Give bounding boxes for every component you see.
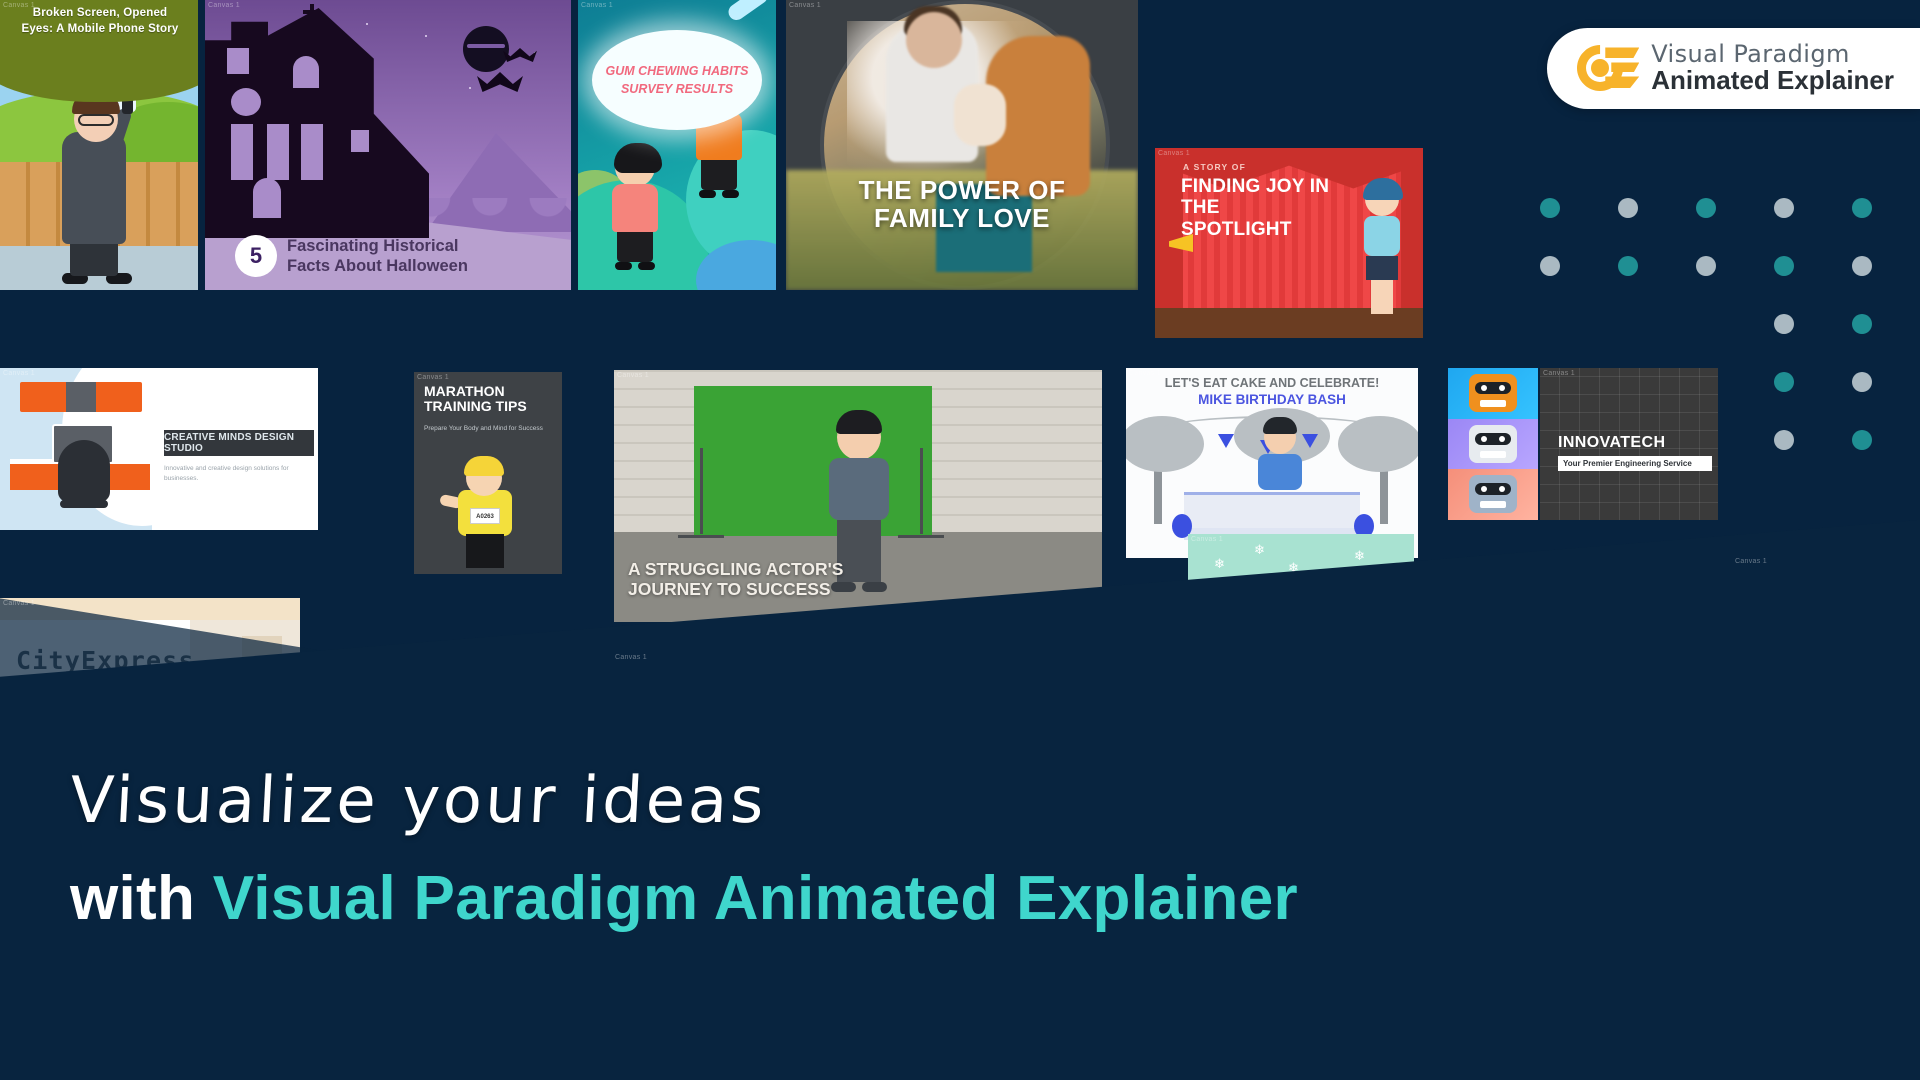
thumbnail-actor-journey[interactable]: A STRUGGLING ACTOR'SJOURNEY TO SUCCESS C… <box>614 370 1102 622</box>
brand-line-2: Animated Explainer <box>1651 67 1894 95</box>
performer-skirt <box>1366 256 1398 280</box>
decor-dot <box>1852 314 1872 334</box>
brand-logo[interactable]: Visual Paradigm Animated Explainer <box>1547 28 1920 109</box>
character-hair <box>614 143 662 173</box>
canvas-watermark: Canvas 1 <box>1191 536 1223 543</box>
actor-hair <box>836 410 882 434</box>
window-shape <box>227 48 249 74</box>
decor-dot <box>1852 372 1872 392</box>
light-stand <box>700 448 703 534</box>
thumbnail-tagline: Your Premier Engineering Service <box>1558 456 1712 471</box>
green-screen <box>694 386 932 536</box>
robot-eyes <box>1475 382 1511 394</box>
window-shape <box>267 124 289 180</box>
performer-legs <box>1371 280 1393 314</box>
thumbnail-birthday-bash[interactable]: LET'S EAT CAKE AND CELEBRATE! MIKE BIRTH… <box>1126 368 1418 558</box>
canvas-watermark: Canvas 1 <box>3 600 35 607</box>
decor-dot <box>1774 256 1794 276</box>
thumbnail-robot-strip[interactable] <box>1448 368 1538 520</box>
poster-canvas: Broken Screen, OpenedEyes: A Mobile Phon… <box>0 0 1920 1080</box>
decor-dot <box>1852 198 1872 218</box>
snowflake-icon: ❄ <box>1214 556 1225 572</box>
thumbnail-halloween[interactable]: 5 Fascinating HistoricalFacts About Hall… <box>205 0 571 290</box>
runner-legs <box>466 534 504 568</box>
glasses-icon <box>78 114 114 126</box>
decor-dot <box>1540 256 1560 276</box>
character-shoes <box>699 190 739 198</box>
canvas-watermark: Canvas 1 <box>615 654 647 661</box>
thumbnail-title: A STRUGGLING ACTOR'SJOURNEY TO SUCCESS <box>628 560 843 600</box>
title-caption: 5 Fascinating HistoricalFacts About Hall… <box>205 222 571 290</box>
robot-eyes <box>1475 483 1511 495</box>
snowflake-icon: ❄ <box>1254 542 1265 558</box>
chair-base <box>60 500 108 508</box>
robot-face <box>1469 475 1517 513</box>
thumbnail-marathon[interactable]: MARATHONTRAINING TIPS Prepare Your Body … <box>414 372 562 574</box>
decor-dot <box>1852 256 1872 276</box>
decor-dot <box>1774 198 1794 218</box>
canvas-watermark: Canvas 1 <box>1129 370 1161 377</box>
robot-avatar-red <box>1448 469 1538 520</box>
thumbnail-title: GUM CHEWING HABITSSURVEY RESULTS <box>592 30 762 130</box>
canvas-watermark: Canvas 1 <box>1735 558 1767 565</box>
robot-face <box>1469 425 1517 463</box>
curtain-left <box>1155 148 1183 312</box>
thumbnail-title: INNOVATECH <box>1558 434 1665 452</box>
robot-avatar-purple <box>1448 419 1538 470</box>
headline-line-2: with Visual Paradigm Animated Explainer <box>70 863 1298 934</box>
headline-with-word: with <box>70 864 213 933</box>
decor-dot <box>1774 430 1794 450</box>
thumbnail-title: MARATHONTRAINING TIPS <box>424 384 554 415</box>
character-shoes <box>615 262 655 270</box>
robot-avatar-orange <box>1448 368 1538 419</box>
bunting-flag <box>1218 434 1234 448</box>
canvas-watermark: Canvas 1 <box>1543 370 1575 377</box>
speech-bubble: GUM CHEWING HABITSSURVEY RESULTS <box>592 30 762 130</box>
canvas-watermark: Canvas 1 <box>3 370 35 377</box>
headline-block: Visualize your ideas with Visual Paradig… <box>70 769 1298 934</box>
canvas-watermark: Canvas 1 <box>417 374 449 381</box>
thumbnail-title: MIKE BIRTHDAY BASH <box>1126 392 1418 407</box>
father-head <box>906 12 962 68</box>
cross-icon <box>310 4 314 26</box>
thumbnail-kicker: LET'S EAT CAKE AND CELEBRATE! <box>1126 376 1418 390</box>
decor-dot <box>1618 198 1638 218</box>
canvas-watermark: Canvas 1 <box>789 2 821 9</box>
shelf-shape <box>20 382 142 412</box>
title-band: Broken Screen, OpenedEyes: A Mobile Phon… <box>0 0 198 102</box>
performer-hair <box>1363 178 1403 200</box>
robot-face <box>1469 374 1517 412</box>
door-shape <box>253 178 281 218</box>
window-shape <box>231 124 253 180</box>
round-window-shape <box>231 88 261 116</box>
decor-dot <box>1696 256 1716 276</box>
canvas-watermark: Canvas 1 <box>208 2 240 9</box>
canvas-watermark: Canvas 1 <box>617 372 649 379</box>
thumbnail-gum-survey[interactable]: GUM CHEWING HABITSSURVEY RESULTS Canvas … <box>578 0 776 290</box>
brand-line-1: Visual Paradigm <box>1651 42 1894 67</box>
thumbnail-subtitle: Innovative and creative design solutions… <box>164 464 312 484</box>
decor-dot <box>1540 198 1560 218</box>
thumbnail-title: Fascinating HistoricalFacts About Hallow… <box>287 236 468 276</box>
decor-dot <box>1618 256 1638 276</box>
star-icon <box>469 87 471 89</box>
thumbnail-kicker: A STORY OF <box>1183 162 1246 172</box>
light-stand <box>920 448 923 534</box>
race-bib: A0263 <box>470 508 500 524</box>
office-chair-icon <box>58 440 110 502</box>
robot-mouth <box>1480 400 1506 407</box>
snowflake-icon: ❄ <box>1354 548 1365 564</box>
headline-line-1: Visualize your ideas <box>68 769 1299 833</box>
thumbnail-innovatech[interactable]: INNOVATECH Your Premier Engineering Serv… <box>1540 368 1718 520</box>
thumbnail-subtitle: Prepare Your Body and Mind for Success <box>424 424 552 434</box>
canvas-watermark: Canvas 1 <box>1158 150 1190 157</box>
moon-icon <box>463 26 509 72</box>
thumbnail-title: Broken Screen, OpenedEyes: A Mobile Phon… <box>0 6 198 37</box>
boy-hair <box>1263 417 1297 434</box>
window-shape <box>293 56 319 88</box>
character-shorts <box>617 232 653 262</box>
birthday-boy-figure <box>1254 420 1306 494</box>
list-number-badge: 5 <box>235 235 277 277</box>
stand-foot <box>898 535 944 538</box>
robot-mouth <box>1480 501 1506 508</box>
performer-top <box>1364 216 1400 256</box>
character-shorts <box>701 160 737 190</box>
headline-product-name: Visual Paradigm Animated Explainer <box>213 864 1298 933</box>
boy-shirt <box>1258 454 1302 490</box>
decor-dot <box>1852 430 1872 450</box>
runner-hair <box>464 456 504 476</box>
vp-logo-icon <box>1577 43 1637 93</box>
thumbnail-spotlight[interactable]: A STORY OF FINDING JOY IN THESPOTLIGHT C… <box>1155 148 1423 338</box>
robot-mouth <box>1480 451 1506 458</box>
star-icon <box>425 35 427 37</box>
window-shape <box>301 124 323 180</box>
performer-figure <box>1359 182 1405 312</box>
decor-dot <box>1696 198 1716 218</box>
robot-eyes <box>1475 433 1511 445</box>
actor-shirt <box>829 458 889 520</box>
character-girl <box>612 147 658 270</box>
stand-foot <box>678 535 724 538</box>
window-shape <box>351 130 369 152</box>
canvas-watermark: Canvas 1 <box>3 2 35 9</box>
baby-figure <box>954 84 1006 146</box>
canvas-watermark: Canvas 1 <box>581 2 613 9</box>
thumbnail-family-love[interactable]: THE POWER OFFAMILY LOVE Canvas 1 <box>786 0 1138 290</box>
thumbnail-broken-screen[interactable]: Broken Screen, OpenedEyes: A Mobile Phon… <box>0 0 198 290</box>
decor-dot <box>1774 372 1794 392</box>
decor-dot <box>1774 314 1794 334</box>
thumbnail-title: FINDING JOY IN THESPOTLIGHT <box>1181 176 1363 240</box>
thumbnail-design-studio[interactable]: CREATIVE MINDS DESIGN STUDIO Innovative … <box>0 368 318 530</box>
character-shirt <box>612 184 658 232</box>
thumbnail-title: THE POWER OFFAMILY LOVE <box>786 177 1138 232</box>
thumbnail-title: CREATIVE MINDS DESIGN STUDIO <box>164 430 314 456</box>
brand-wordmark: Visual Paradigm Animated Explainer <box>1651 42 1894 95</box>
actor-legs <box>837 520 881 582</box>
